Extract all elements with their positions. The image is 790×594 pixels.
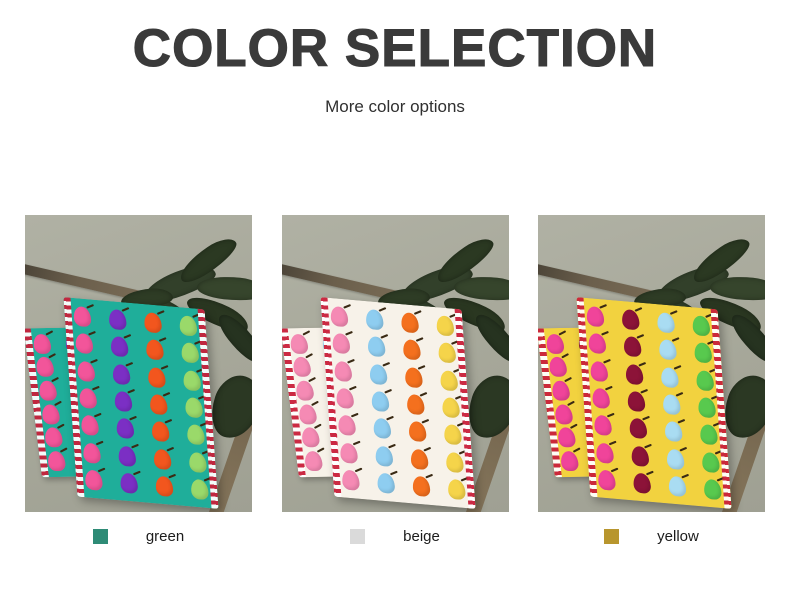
pear-motif — [46, 451, 66, 471]
pear-motif — [660, 366, 679, 387]
pear-motif — [631, 445, 650, 466]
pear-motif — [659, 339, 678, 360]
pear-motif — [108, 309, 127, 330]
pear-motif — [692, 315, 711, 336]
pear-motif — [556, 428, 576, 448]
pear-motif — [147, 366, 166, 387]
pear-motif — [187, 424, 206, 445]
pear-motif — [337, 415, 356, 436]
pear-motif — [447, 479, 466, 500]
pear-motif — [559, 451, 579, 471]
pear-motif — [81, 415, 100, 436]
pear-motif — [668, 476, 687, 497]
towel-front-layer — [63, 297, 218, 509]
pear-motif — [185, 397, 204, 418]
pear-motif — [696, 370, 715, 391]
swatch-row[interactable]: green — [25, 528, 252, 545]
pear-motif — [41, 404, 61, 424]
product-photo-yellow[interactable] — [538, 215, 765, 512]
pear-motif — [179, 315, 198, 336]
pear-motif — [694, 342, 713, 363]
pear-motif — [151, 421, 170, 442]
color-swatch-beige[interactable] — [350, 529, 365, 544]
pear-motif — [621, 309, 640, 330]
pear-motif — [116, 418, 135, 439]
pear-motif — [333, 360, 352, 381]
pear-motif — [291, 357, 311, 377]
color-option-card-green[interactable]: green — [25, 215, 252, 545]
pear-motif — [657, 312, 676, 333]
pear-motif — [437, 342, 456, 363]
pear-motif — [365, 309, 384, 330]
pear-motif — [698, 397, 717, 418]
pear-motif — [623, 336, 642, 357]
leaf-icon — [727, 308, 765, 367]
pear-motif — [189, 452, 208, 473]
pear-motif — [664, 421, 683, 442]
pear-motif — [590, 360, 609, 381]
product-photo-beige[interactable] — [282, 215, 509, 512]
color-option-card-yellow[interactable]: yellow — [538, 215, 765, 545]
leaf-icon — [214, 308, 252, 367]
towel-front-layer — [320, 297, 475, 509]
pear-motif — [149, 394, 168, 415]
swatch-row[interactable]: beige — [282, 528, 509, 545]
pear-motif — [372, 418, 391, 439]
pear-motif — [294, 381, 314, 401]
pear-motif — [38, 381, 58, 401]
pear-motif — [367, 336, 386, 357]
pear-motif — [288, 334, 308, 354]
pear-motif — [85, 470, 104, 491]
pear-motif — [183, 370, 202, 391]
towel-pattern — [63, 297, 218, 509]
pear-motif — [330, 306, 349, 327]
pear-motif — [331, 333, 350, 354]
pear-motif — [83, 442, 102, 463]
color-label-yellow: yellow — [657, 528, 699, 545]
pear-motif — [592, 388, 611, 409]
color-option-card-beige[interactable]: beige — [282, 215, 509, 545]
pear-motif — [73, 306, 92, 327]
pear-motif — [633, 473, 652, 494]
pear-motif — [594, 415, 613, 436]
pear-motif — [545, 334, 565, 354]
pear-motif — [406, 394, 425, 415]
pear-motif — [43, 428, 63, 448]
pear-motif — [700, 424, 719, 445]
leaf-icon — [470, 308, 508, 367]
pear-motif — [410, 448, 429, 469]
pear-motif — [32, 334, 52, 354]
pear-motif — [303, 451, 323, 471]
pear-motif — [435, 315, 454, 336]
pear-motif — [554, 404, 574, 424]
pear-motif — [118, 445, 137, 466]
color-label-green: green — [146, 528, 184, 545]
pear-motif — [412, 476, 431, 497]
pear-motif — [181, 342, 200, 363]
pear-motif — [369, 363, 388, 384]
pear-motif — [341, 470, 360, 491]
pear-motif — [586, 306, 605, 327]
color-swatch-green[interactable] — [93, 529, 108, 544]
color-option-gallery: green — [25, 215, 765, 545]
pear-motif — [588, 333, 607, 354]
pear-motif — [146, 339, 165, 360]
pear-motif — [297, 404, 317, 424]
pear-motif — [339, 442, 358, 463]
pear-motif — [300, 428, 320, 448]
pear-motif — [703, 479, 722, 500]
pear-motif — [408, 421, 427, 442]
pear-motif — [666, 448, 685, 469]
pear-motif — [75, 333, 94, 354]
pear-motif — [79, 388, 98, 409]
pear-motif — [400, 312, 419, 333]
pear-motif — [629, 418, 648, 439]
towel-pattern — [320, 297, 475, 509]
page-title: COLOR SELECTION — [0, 20, 790, 78]
pear-motif — [625, 363, 644, 384]
pear-motif — [335, 388, 354, 409]
color-swatch-yellow[interactable] — [604, 529, 619, 544]
page-subtitle: More color options — [0, 96, 790, 118]
pear-motif — [112, 363, 131, 384]
pear-motif — [402, 339, 421, 360]
product-photo-green[interactable] — [25, 215, 252, 512]
color-label-beige: beige — [403, 528, 440, 545]
pear-motif — [376, 473, 395, 494]
pear-motif — [120, 473, 139, 494]
pear-motif — [596, 442, 615, 463]
pear-motif — [443, 424, 462, 445]
pear-motif — [598, 470, 617, 491]
pear-motif — [404, 366, 423, 387]
pear-motif — [548, 357, 568, 377]
pear-motif — [190, 479, 209, 500]
towel-pattern — [576, 297, 731, 509]
pear-motif — [627, 391, 646, 412]
pear-motif — [439, 370, 458, 391]
pear-motif — [144, 312, 163, 333]
pear-motif — [153, 448, 172, 469]
pear-motif — [35, 357, 55, 377]
pear-motif — [110, 336, 129, 357]
swatch-row[interactable]: yellow — [538, 528, 765, 545]
pear-motif — [551, 381, 571, 401]
pear-motif — [371, 391, 390, 412]
pear-motif — [374, 445, 393, 466]
pear-motif — [441, 397, 460, 418]
pear-motif — [662, 394, 681, 415]
towel-front-layer — [576, 297, 731, 509]
pear-motif — [155, 476, 174, 497]
color-selection-page: COLOR SELECTION More color options — [0, 0, 790, 594]
pear-motif — [702, 452, 721, 473]
pear-motif — [445, 452, 464, 473]
pear-motif — [77, 360, 96, 381]
pear-motif — [114, 391, 133, 412]
